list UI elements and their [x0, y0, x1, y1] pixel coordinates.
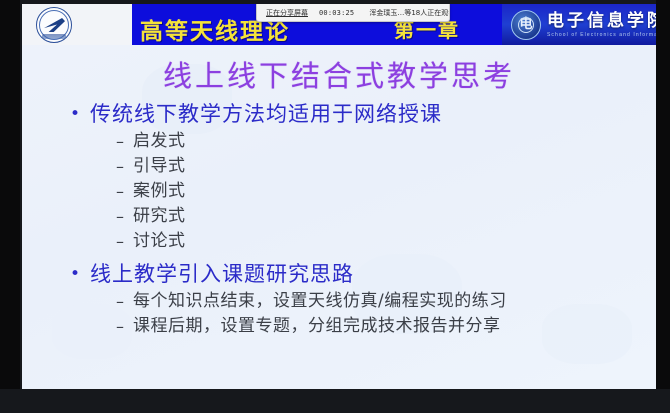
- bullet-level2: – 课程后期，设置专题，分组完成技术报告并分享: [116, 314, 646, 339]
- bullet-level2-text: 讨论式: [133, 229, 186, 254]
- university-seal-logo: [36, 7, 72, 43]
- bullet-level1: • 传统线下教学方法均适用于网络授课: [70, 100, 646, 129]
- college-logo: 电 电子信息学院 School of Electronics and Infor…: [508, 7, 652, 43]
- bullet-level1-text: 线上教学引入课题研究思路: [90, 260, 354, 289]
- bullet-dot-icon: •: [70, 260, 90, 289]
- college-name-cn: 电子信息学院: [547, 12, 656, 31]
- share-status-label: 正在分享屏幕: [266, 8, 308, 18]
- bullet-level2: – 引导式: [116, 154, 646, 179]
- college-name-block: 电子信息学院 School of Electronics and Informa…: [547, 12, 656, 39]
- bullet-level2-text: 课程后期，设置专题，分组完成技术报告并分享: [133, 314, 501, 339]
- bullet-level2: – 启发式: [116, 129, 646, 154]
- college-seal-icon: 电: [511, 10, 541, 40]
- bullet-level2-text: 研究式: [133, 204, 186, 229]
- dash-marker-icon: –: [116, 289, 133, 314]
- college-seal-glyph: 电: [512, 16, 540, 34]
- college-name-en: School of Electronics and Information: [547, 31, 656, 39]
- bullet-list: • 传统线下教学方法均适用于网络授课 – 启发式 – 引导式 – 案例式: [70, 98, 646, 339]
- share-timer: 00:03:25: [319, 9, 354, 17]
- bullet-dot-icon: •: [70, 100, 90, 129]
- bullet-level2-text: 案例式: [133, 179, 186, 204]
- screen-share-overlay-bar[interactable]: 正在分享屏幕 00:03:25 浑金璞玉…等18人正在观看: [256, 4, 450, 22]
- bullet-level2-text: 引导式: [133, 154, 186, 179]
- share-viewers-label[interactable]: 浑金璞玉…等18人正在观看: [369, 8, 450, 18]
- dash-marker-icon: –: [116, 154, 133, 179]
- bullet-level1-text: 传统线下教学方法均适用于网络授课: [90, 100, 442, 129]
- bullet-level2: – 案例式: [116, 179, 646, 204]
- dash-marker-icon: –: [116, 179, 133, 204]
- letterbox-left: [0, 0, 20, 413]
- bullet-level2: – 每个知识点结束，设置天线仿真/编程实现的练习: [116, 289, 646, 314]
- screen-capture-frame: 高等天线理论 第一章 电 电子信息学院 School of Electronic…: [0, 0, 670, 413]
- dash-marker-icon: –: [116, 204, 133, 229]
- seal-text-band: [42, 34, 66, 39]
- slide-content: 线上线下结合式教学思考 • 传统线下教学方法均适用于网络授课 – 启发式 – 引…: [22, 45, 656, 389]
- sub-bullet-group: – 每个知识点结束，设置天线仿真/编程实现的练习 – 课程后期，设置专题，分组完…: [116, 289, 646, 339]
- bullet-level1: • 线上教学引入课题研究思路: [70, 260, 646, 289]
- slide-title: 线上线下结合式教学思考: [22, 53, 656, 95]
- presentation-slide: 高等天线理论 第一章 电 电子信息学院 School of Electronic…: [22, 4, 656, 389]
- dash-marker-icon: –: [116, 129, 133, 154]
- bullet-level2: – 讨论式: [116, 229, 646, 254]
- bullet-level2-text: 启发式: [133, 129, 186, 154]
- bullet-level2: – 研究式: [116, 204, 646, 229]
- sub-bullet-group: – 启发式 – 引导式 – 案例式 – 研究式: [116, 129, 646, 254]
- dash-marker-icon: –: [116, 229, 133, 254]
- letterbox-bottom: [0, 389, 670, 413]
- letterbox-right: [656, 0, 670, 413]
- dash-marker-icon: –: [116, 314, 133, 339]
- bullet-level2-text: 每个知识点结束，设置天线仿真/编程实现的练习: [133, 289, 507, 314]
